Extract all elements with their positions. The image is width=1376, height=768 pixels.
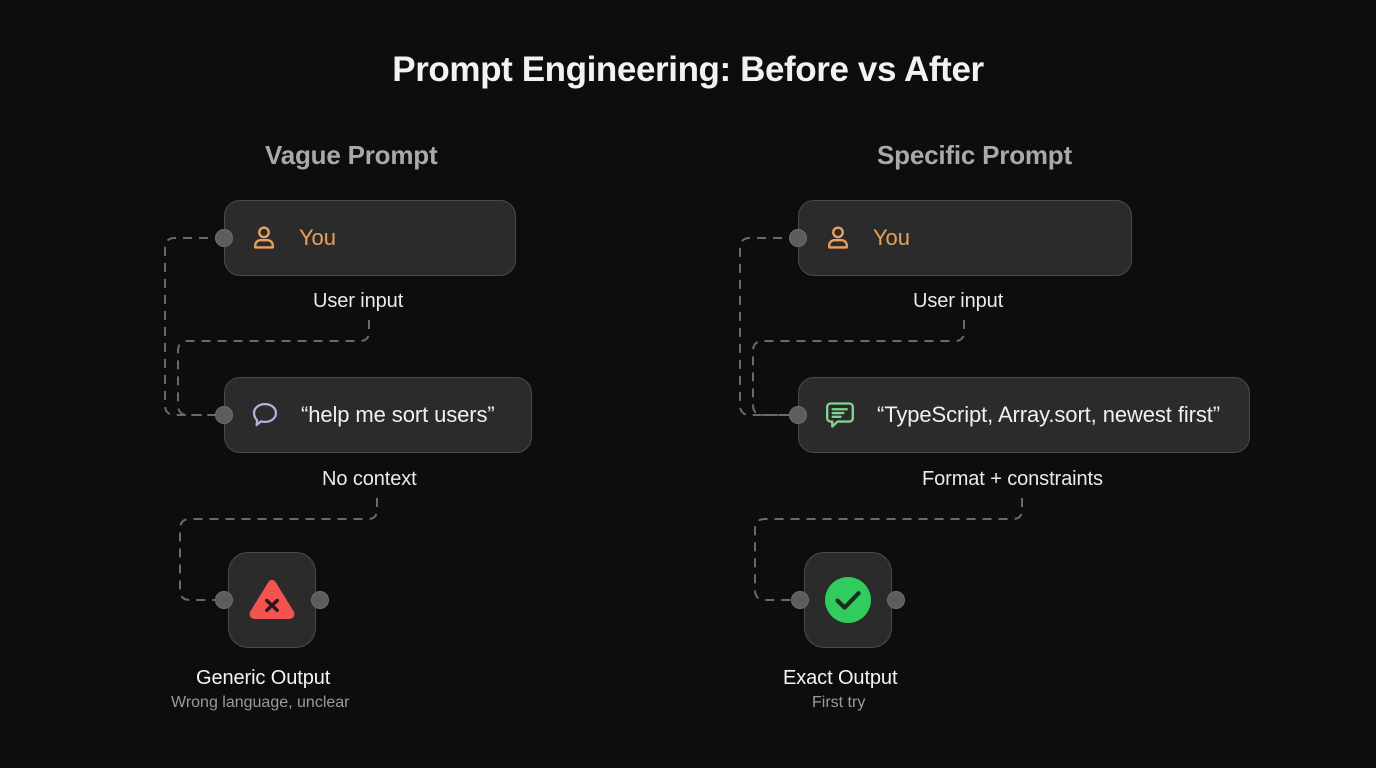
error-triangle-icon	[247, 577, 297, 623]
success-check-icon	[823, 575, 873, 625]
title-vague-output: Generic Output	[196, 667, 330, 690]
diagram-canvas: Prompt Engineering: Before vs After Vagu…	[0, 0, 1376, 768]
node-specific-user-label: You	[873, 225, 910, 251]
caption-vague-no-context: No context	[322, 468, 417, 491]
column-heading-specific: Specific Prompt	[877, 140, 1072, 171]
node-vague-prompt[interactable]: “help me sort users”	[224, 377, 532, 453]
node-specific-prompt-label: “TypeScript, Array.sort, newest first”	[877, 402, 1220, 428]
speech-bubble-icon	[249, 399, 281, 431]
title-specific-output: Exact Output	[783, 667, 897, 690]
subtitle-vague-output: Wrong language, unclear	[171, 694, 350, 712]
port-vague-prompt-left[interactable]	[215, 406, 233, 424]
message-lines-icon	[823, 398, 857, 432]
column-heading-vague: Vague Prompt	[265, 140, 437, 171]
caption-specific-format-constraints: Format + constraints	[922, 468, 1103, 491]
person-icon	[249, 223, 279, 253]
port-specific-output-left[interactable]	[791, 591, 809, 609]
port-vague-user-left[interactable]	[215, 229, 233, 247]
node-specific-prompt[interactable]: “TypeScript, Array.sort, newest first”	[798, 377, 1250, 453]
node-specific-user[interactable]: You	[798, 200, 1132, 276]
subtitle-specific-output: First try	[812, 694, 865, 712]
node-vague-user[interactable]: You	[224, 200, 516, 276]
port-specific-output-right[interactable]	[887, 591, 905, 609]
wire-specific-user-to-prompt-outer	[740, 238, 798, 415]
port-vague-output-right[interactable]	[311, 591, 329, 609]
node-vague-prompt-label: “help me sort users”	[301, 402, 495, 428]
page-title: Prompt Engineering: Before vs After	[0, 50, 1376, 90]
caption-vague-user-input: User input	[313, 290, 403, 313]
node-vague-output[interactable]	[228, 552, 316, 648]
caption-specific-user-input: User input	[913, 290, 1003, 313]
port-specific-prompt-left[interactable]	[789, 406, 807, 424]
port-specific-user-left[interactable]	[789, 229, 807, 247]
port-vague-output-left[interactable]	[215, 591, 233, 609]
person-icon	[823, 223, 853, 253]
wire-vague-user-to-prompt-outer	[165, 238, 224, 415]
node-specific-output[interactable]	[804, 552, 892, 648]
node-vague-user-label: You	[299, 225, 336, 251]
